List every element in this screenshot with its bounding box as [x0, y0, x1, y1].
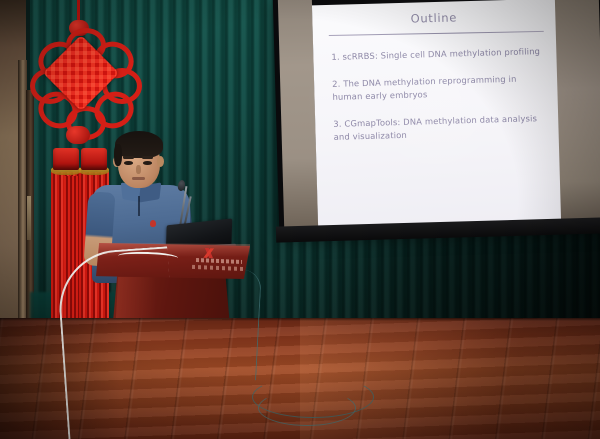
presenter-eyebrow: [142, 156, 153, 159]
slide-title: Outline: [312, 8, 555, 29]
shirt-logo: [150, 220, 156, 227]
presenter-mouth: [132, 177, 145, 180]
tassel-cap: [53, 148, 79, 170]
slide-outline-item-1: 1. scRRBS: Single cell DNA methylation p…: [331, 45, 542, 64]
slide-title-divider: [329, 31, 544, 36]
slide-outline-item-2: 2. The DNA methylation reprogramming in …: [332, 72, 544, 105]
polo-placket: [138, 196, 140, 216]
presenter-eyebrow: [123, 156, 134, 159]
knot-bottom-bead: [66, 126, 90, 144]
presenter-hair-side: [114, 144, 122, 166]
slide-outline-list: 1. scRRBS: Single cell DNA methylation p…: [331, 45, 545, 157]
presenter-eye: [143, 161, 152, 165]
slide-outline-item-3: 3. CGmapTools: DNA methylation data anal…: [333, 111, 545, 144]
presenter-nose: [136, 165, 141, 174]
knot-body: [28, 30, 132, 130]
presenter-eye: [124, 161, 133, 165]
network-cable-coil: [258, 390, 356, 426]
projected-slide: Outline 1. scRRBS: Single cell DNA methy…: [312, 0, 561, 227]
power-cable: [55, 246, 180, 439]
institution-logo: [198, 248, 218, 259]
presenter-hair: [115, 131, 163, 158]
presenter-ear: [157, 156, 164, 167]
knot-hanging-cord: [77, 0, 80, 22]
presentation-photo: Outline 1. scRRBS: Single cell DNA methy…: [0, 0, 600, 439]
